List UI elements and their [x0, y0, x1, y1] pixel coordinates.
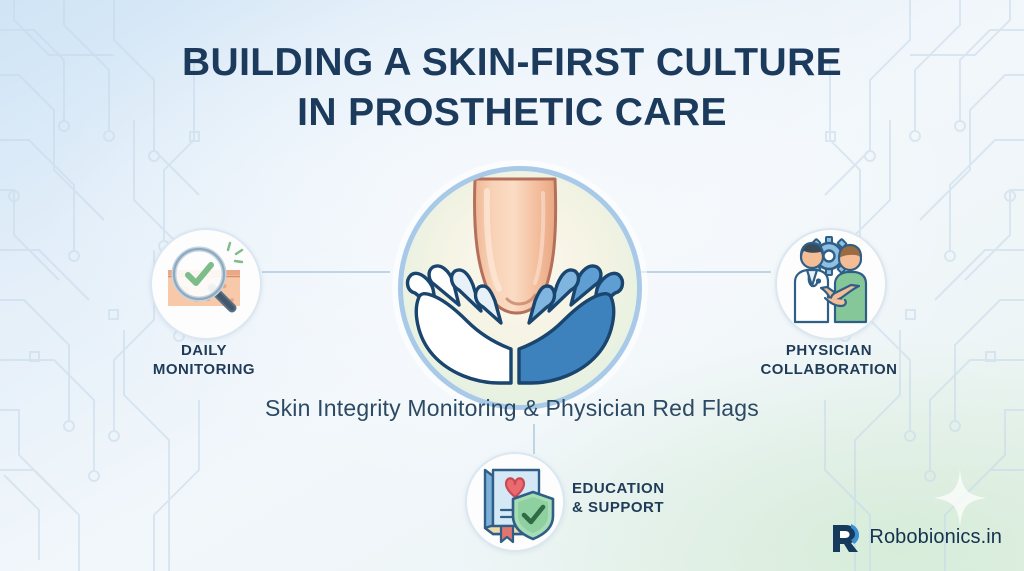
page-title: BUILDING A SKIN-FIRST CULTURE IN PROSTHE… [0, 38, 1024, 137]
label-education-support-line-1: EDUCATION [572, 480, 665, 497]
label-daily-monitoring-line-1: DAILY [181, 342, 227, 359]
doctor-patient-handshake-gear-icon [777, 230, 881, 334]
book-heart-shield-icon [467, 454, 559, 546]
connector-left [262, 271, 390, 273]
title-line-2: IN PROSTHETIC CARE [0, 88, 1024, 138]
caption-text: Skin Integrity Monitoring & Physician Re… [0, 395, 1024, 422]
label-daily-monitoring-line-2: MONITORING [153, 361, 255, 378]
node-daily-monitoring[interactable] [150, 228, 262, 340]
label-physician-collaboration-line-2: COLLABORATION [760, 361, 897, 378]
label-physician-collaboration-line-1: PHYSICIAN [786, 342, 872, 359]
robobionics-r-mark-icon [831, 521, 861, 553]
center-illustration [398, 166, 642, 410]
brand-logo[interactable]: Robobionics.in [831, 521, 1002, 553]
label-education-support-line-2: & SUPPORT [572, 499, 664, 516]
brand-logo-text: Robobionics.in [869, 526, 1002, 549]
connector-bottom [533, 424, 535, 454]
node-education-support[interactable] [465, 452, 565, 552]
label-education-support: EDUCATION & SUPPORT [572, 479, 732, 517]
sparkle-decoration-icon [934, 469, 986, 527]
magnifier-skin-check-icon [152, 230, 256, 334]
label-daily-monitoring: DAILY MONITORING [124, 341, 284, 379]
connector-right [641, 271, 771, 273]
infographic-canvas: BUILDING A SKIN-FIRST CULTURE IN PROSTHE… [0, 0, 1024, 571]
residual-limb-in-prosthetic-hands-illustration [403, 171, 627, 395]
node-physician-collaboration[interactable] [775, 228, 887, 340]
title-line-1: BUILDING A SKIN-FIRST CULTURE [182, 41, 842, 84]
label-physician-collaboration: PHYSICIAN COLLABORATION [749, 341, 909, 379]
